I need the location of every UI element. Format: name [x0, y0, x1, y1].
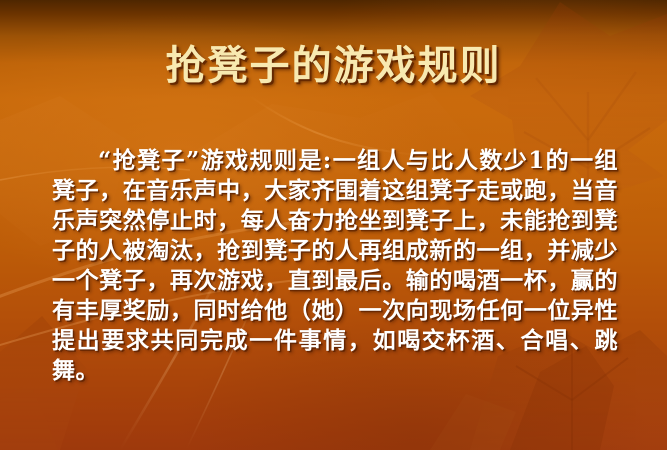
presentation-slide: 抢凳子的游戏规则 “抢凳子”游戏规则是:一组人与比人数少1的一组凳子，在音乐声中… — [0, 0, 667, 450]
body-paragraph: “抢凳子”游戏规则是:一组人与比人数少1的一组凳子，在音乐声中，大家齐围着这组凳… — [52, 146, 618, 386]
title-placeholder: 抢凳子的游戏规则 — [0, 44, 667, 88]
body-placeholder: “抢凳子”游戏规则是:一组人与比人数少1的一组凳子，在音乐声中，大家齐围着这组凳… — [52, 146, 618, 386]
page-title: 抢凳子的游戏规则 — [166, 44, 502, 88]
